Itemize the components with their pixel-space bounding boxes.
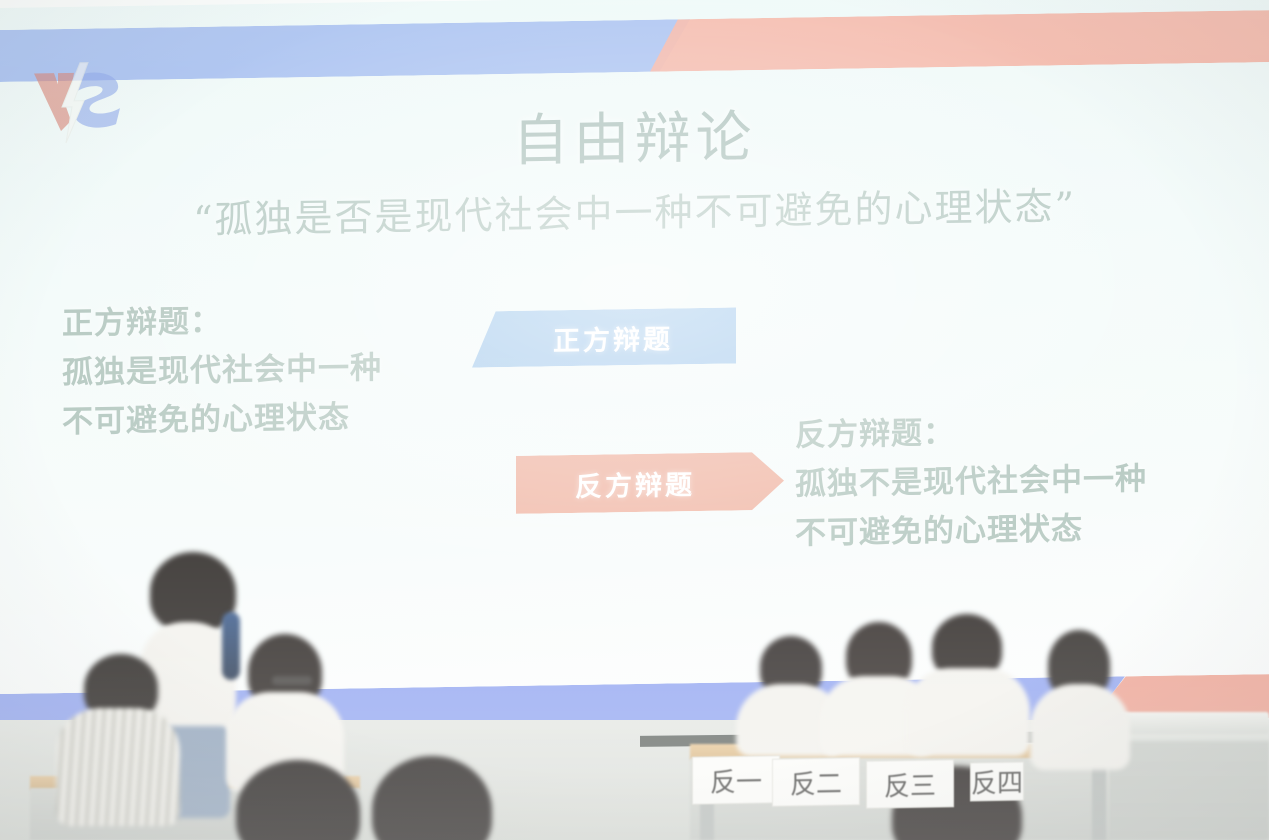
opposition-heading: 反方辩题： [795,405,1147,460]
opposition-banner: 反方辩题 [516,452,784,514]
classroom-debate-photo: 自由辩论 “孤独是否是现代社会中一种不可避免的心理状态” 正方辩题： 孤独是现代… [0,0,1269,840]
opposition-line-2: 不可避免的心理状态 [795,503,1147,558]
top-band-coral-segment [650,10,1269,72]
affirmative-student-2-glasses [272,676,312,685]
slide-subtitle: “孤独是否是现代社会中一种不可避免的心理状态” [0,172,1269,247]
affirmative-banner: 正方辩题 [472,307,736,367]
placard-fan-yi: 反一 [692,755,780,805]
panelist-4-body [1030,684,1130,770]
affirmative-line-1: 孤独是现代社会中一种 [62,343,382,397]
placard-fan-san: 反三 [866,759,954,809]
opposition-line-1: 孤独不是现代社会中一种 [795,454,1147,509]
panelist-3-body [906,668,1030,756]
slide-top-decor-band [0,10,1269,82]
slide-title: 自由辩论 [0,84,1269,185]
affirmative-line-2: 不可避免的心理状态 [62,392,382,446]
opposition-text-block: 反方辩题： 孤独不是现代社会中一种 不可避免的心理状态 [795,405,1147,558]
affirmative-student-1-body [56,708,180,826]
opposition-desk-leg-right [1092,758,1106,840]
affirmative-heading: 正方辩题： [62,294,382,348]
placard-fan-er: 反二 [772,757,860,807]
microphone [222,612,240,680]
affirmative-text-block: 正方辩题： 孤独是现代社会中一种 不可避免的心理状态 [62,294,382,446]
placard-fan-si: 反四 [970,762,1024,802]
